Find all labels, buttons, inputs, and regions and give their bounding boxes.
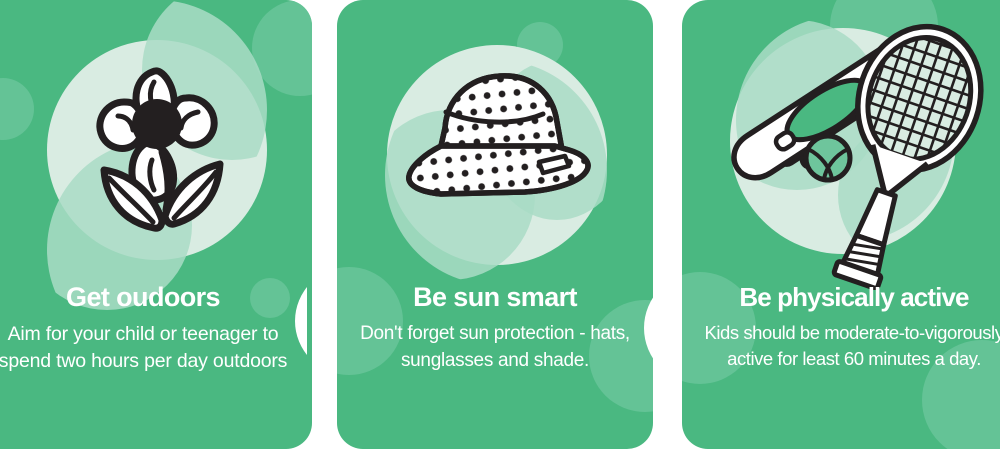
tip-card-text-block: Be physically active Kids should be mode…: [682, 283, 1000, 372]
tip-card-be-physically-active[interactable]: Be physically active Kids should be mode…: [682, 0, 1000, 449]
tip-card-body: Aim for your child or teenager to spend …: [0, 321, 302, 376]
tip-card-body: Kids should be moderate-to-vigorously ac…: [692, 320, 1000, 373]
tip-card-body: Don't forget sun protection - hats, sung…: [347, 321, 643, 375]
tip-card-title: Be physically active: [692, 283, 1000, 312]
tip-card-text-block: Be sun smart Don't forget sun protection…: [337, 283, 653, 375]
tip-card-title: Get oudoors: [0, 283, 302, 313]
tip-card-be-sun-smart[interactable]: Be sun smart Don't forget sun protection…: [337, 0, 653, 449]
tip-card-text-block: Get oudoors Aim for your child or teenag…: [0, 283, 312, 376]
tip-card-title: Be sun smart: [347, 283, 643, 313]
decorative-circle: [0, 78, 34, 140]
health-tips-card-row: Get oudoors Aim for your child or teenag…: [0, 0, 1000, 449]
tip-card-get-outdoors[interactable]: Get oudoors Aim for your child or teenag…: [0, 0, 312, 449]
